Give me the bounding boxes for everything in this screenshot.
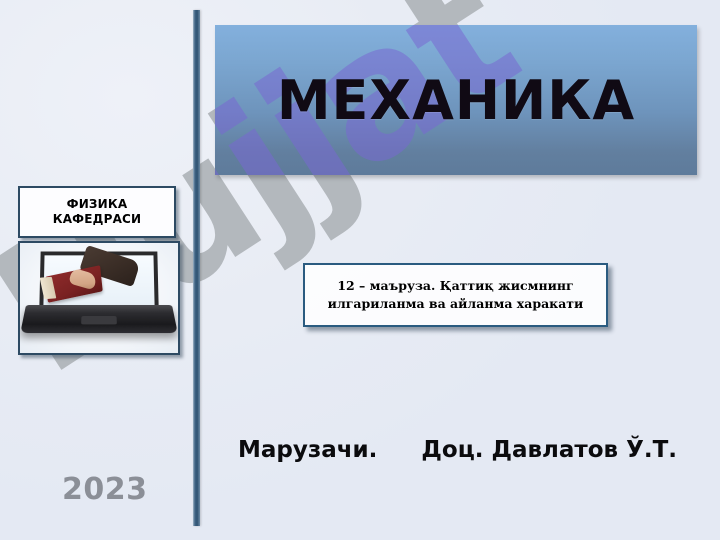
department-line-1: ФИЗИКА xyxy=(67,197,128,212)
presenter-role-label: Марузачи. xyxy=(238,437,377,463)
laptop-hand-book-image xyxy=(20,243,178,353)
laptop-photo-frame xyxy=(18,241,180,355)
department-box: ФИЗИКА КАФЕДРАСИ xyxy=(18,186,176,238)
presentation-slide: Hujjat МЕХАНИКА Hujjat ФИЗИКА КАФЕДРАСИ … xyxy=(0,0,720,540)
page-title: МЕХАНИКА xyxy=(277,69,635,132)
laptop-base-icon xyxy=(20,305,177,333)
lecture-subtitle-text: 12 – маъруза. Қаттиқ жисмнинг илгариланм… xyxy=(320,277,592,313)
lecture-subtitle-box: 12 – маъруза. Қаттиқ жисмнинг илгариланм… xyxy=(303,263,608,327)
vertical-divider-bar xyxy=(193,10,200,526)
year-label: 2023 xyxy=(62,472,148,507)
presenter-line: Марузачи. Доц. Давлатов Ў.Т. xyxy=(238,437,688,463)
presenter-name-label: Доц. Давлатов Ў.Т. xyxy=(421,437,677,463)
subtitle-line-2: илгариланма ва айланма харакати xyxy=(328,296,584,311)
title-panel: МЕХАНИКА xyxy=(215,25,697,175)
subtitle-line-1: 12 – маъруза. Қаттиқ жисмнинг xyxy=(337,278,573,293)
laptop-trackpad-icon xyxy=(81,316,117,324)
department-line-2: КАФЕДРАСИ xyxy=(53,212,142,227)
